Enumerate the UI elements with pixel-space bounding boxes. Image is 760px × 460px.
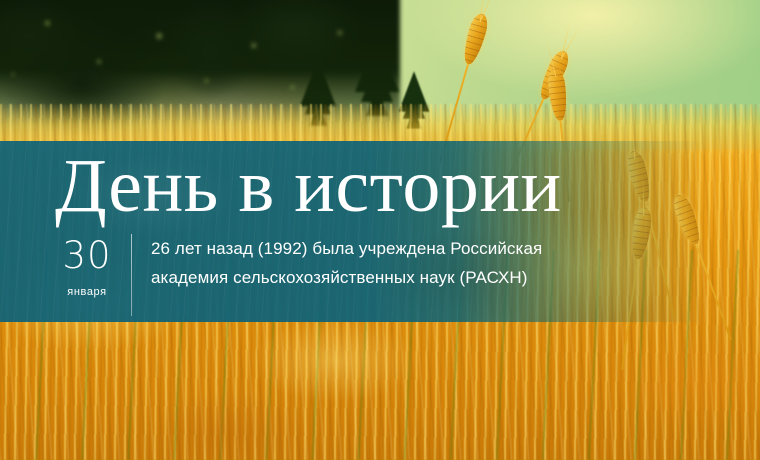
event-description-line: академия сельскохозяйственных наук (РАСХ… bbox=[151, 263, 671, 292]
date-month: января bbox=[48, 285, 126, 299]
event-description: 26 лет назад (1992) была учреждена Росси… bbox=[151, 234, 671, 292]
day-in-history-banner: День в истории 30 января 26 лет назад (1… bbox=[0, 0, 760, 460]
page-title: День в истории bbox=[55, 148, 562, 224]
date-block: 30 января bbox=[48, 236, 126, 299]
event-description-line: 26 лет назад (1992) была учреждена Росси… bbox=[151, 234, 671, 263]
vertical-divider bbox=[131, 234, 132, 316]
date-day: 30 bbox=[48, 236, 126, 276]
